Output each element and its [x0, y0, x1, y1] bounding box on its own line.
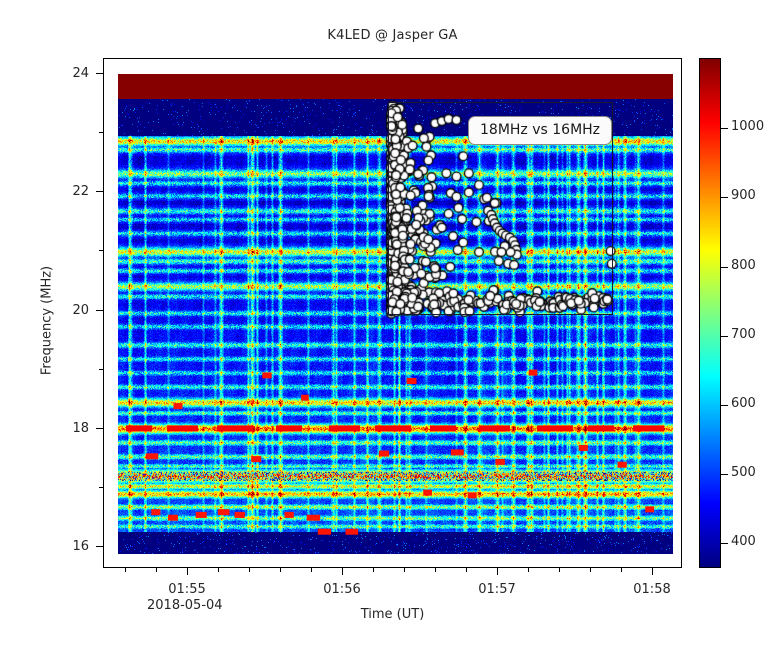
cb-tick-label-800: 800	[731, 258, 756, 273]
y-tick-21-minor	[99, 250, 103, 251]
x-tick-label-0157: 01:57	[457, 582, 537, 597]
y-tick-24	[96, 73, 103, 74]
y-tick-label-22: 22	[29, 184, 89, 199]
x-tick-label-0155: 01:55	[147, 582, 227, 597]
x-tick-minor-7	[373, 568, 374, 572]
y-tick-label-24: 24	[29, 66, 89, 81]
x-tick-minor-9	[435, 568, 436, 572]
cb-tick-label-400: 400	[731, 534, 756, 549]
cb-tick-400	[721, 543, 728, 544]
x-tick-minor-13	[590, 568, 591, 572]
annotation-label: 18MHz vs 16MHz	[468, 116, 612, 145]
x-tick-minor-12	[559, 568, 560, 572]
x-tick-0158	[652, 568, 653, 575]
y-tick-label-16: 16	[29, 539, 89, 554]
y-tick-label-18: 18	[29, 421, 89, 436]
x-tick-minor-5	[280, 568, 281, 572]
x-tick-minor-8	[404, 568, 405, 572]
x-tick-label-0158: 01:58	[612, 582, 692, 597]
y-tick-18	[96, 428, 103, 429]
cb-tick-900	[721, 197, 728, 198]
colorbar-canvas	[700, 59, 720, 567]
cb-tick-label-500: 500	[731, 465, 756, 480]
cb-tick-600	[721, 405, 728, 406]
x-tick-minor-3	[218, 568, 219, 572]
colorbar[interactable]	[699, 58, 721, 568]
y-axis-label: Frequency (MHz)	[40, 231, 55, 411]
x-tick-0157	[497, 568, 498, 575]
y-tick-16	[96, 546, 103, 547]
cb-tick-1000	[721, 128, 728, 129]
x-tick-minor-14	[621, 568, 622, 572]
cb-tick-800	[721, 267, 728, 268]
x-tick-minor-4	[249, 568, 250, 572]
x-axis-label: Time (UT)	[103, 607, 682, 622]
cb-tick-label-600: 600	[731, 396, 756, 411]
y-tick-22	[96, 191, 103, 192]
y-tick-label-20: 20	[29, 303, 89, 318]
page-title: K4LED @ Jasper GA	[103, 28, 682, 43]
y-tick-19-minor	[99, 369, 103, 370]
cb-tick-500	[721, 474, 728, 475]
y-tick-20	[96, 310, 103, 311]
x-tick-minor-6	[311, 568, 312, 572]
x-tick-label-0156: 01:56	[302, 582, 382, 597]
cb-tick-700	[721, 336, 728, 337]
x-tick-0155	[187, 568, 188, 575]
cb-tick-label-700: 700	[731, 327, 756, 342]
cb-tick-label-1000: 1000	[731, 119, 764, 134]
y-tick-23-minor	[99, 132, 103, 133]
cb-tick-label-900: 900	[731, 188, 756, 203]
x-tick-minor-10	[466, 568, 467, 572]
x-tick-minor-1	[125, 568, 126, 572]
figure-container: K4LED @ Jasper GA 18MHz vs 16MHz 24 22 2…	[0, 0, 783, 656]
y-tick-17-minor	[99, 487, 103, 488]
x-tick-minor-2	[156, 568, 157, 572]
x-tick-0156	[342, 568, 343, 575]
x-tick-minor-11	[528, 568, 529, 572]
